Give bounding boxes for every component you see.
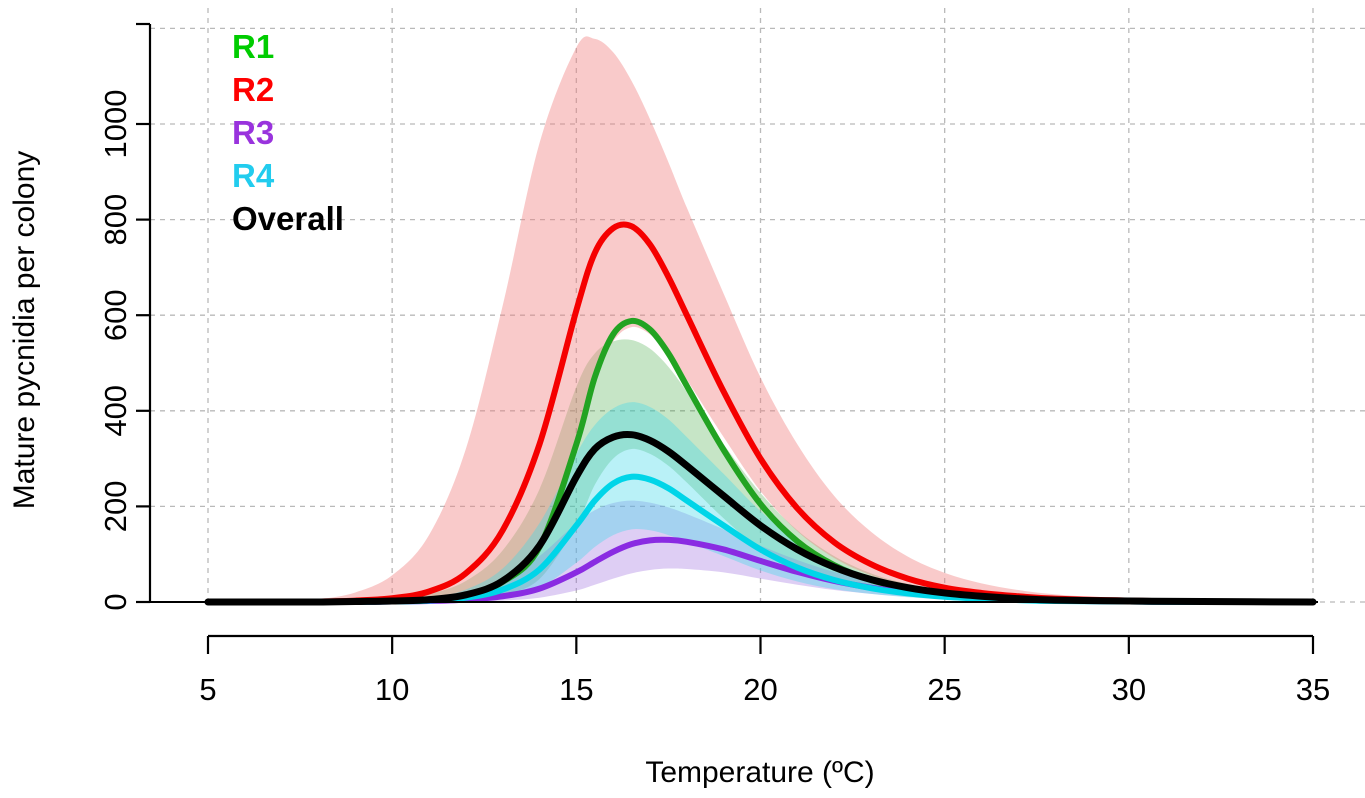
legend-item-r2[interactable]: R2	[232, 71, 274, 108]
legend-item-r3[interactable]: R3	[232, 114, 274, 151]
y-tick-label: 400	[98, 385, 133, 437]
legend: R1R2R3R4Overall	[232, 28, 344, 237]
legend-item-overall[interactable]: Overall	[232, 200, 344, 237]
x-tick-label: 5	[199, 672, 216, 707]
legend-item-r4[interactable]: R4	[232, 157, 275, 194]
pycnidia-temperature-plot: 020040060080010005101520253035 R1R2R3R4O…	[0, 0, 1365, 798]
chart-container: 020040060080010005101520253035 R1R2R3R4O…	[0, 0, 1365, 798]
y-tick-label: 600	[98, 289, 133, 341]
x-tick-label: 30	[1112, 672, 1146, 707]
x-tick-label: 20	[743, 672, 777, 707]
y-tick-label: 1000	[98, 90, 133, 159]
y-tick-label: 0	[98, 593, 133, 610]
x-tick-label: 15	[559, 672, 593, 707]
x-tick-label: 10	[375, 672, 409, 707]
y-axis-title: Mature pycnidia per colony	[8, 151, 41, 510]
x-tick-label: 35	[1296, 672, 1330, 707]
x-tick-label: 25	[927, 672, 961, 707]
y-tick-label: 200	[98, 481, 133, 533]
y-tick-label: 800	[98, 194, 133, 246]
legend-item-r1[interactable]: R1	[232, 28, 274, 65]
x-axis-title: Temperature (ºC)	[645, 756, 874, 789]
